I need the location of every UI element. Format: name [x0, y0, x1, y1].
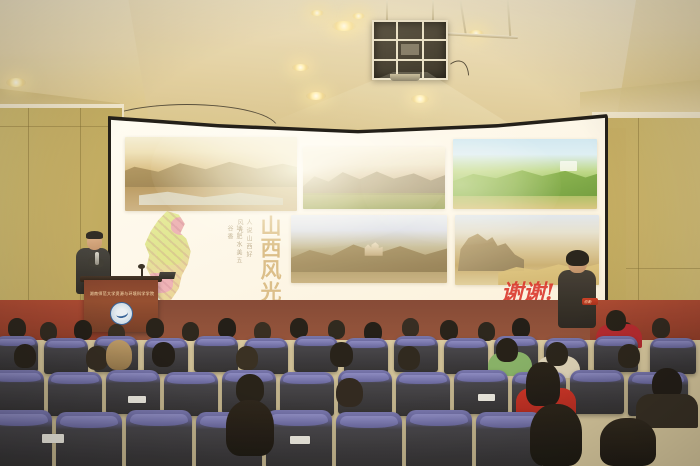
projector-body-glint: [401, 44, 419, 55]
downlight-5: [411, 95, 429, 103]
audience-head: [336, 378, 363, 407]
audience-head: [330, 342, 353, 367]
staff-hair: [566, 250, 589, 266]
audience-head: [652, 318, 670, 338]
audience-head: [512, 318, 530, 338]
projection-screen[interactable]: 人说山西好风光 地肥水美五谷香 山西风光 谢谢!: [108, 112, 608, 312]
auditorium-seat[interactable]: [454, 370, 508, 414]
audience-head-blonde: [106, 340, 132, 370]
downlight-1: [332, 21, 356, 31]
auditorium-seat[interactable]: [48, 372, 102, 416]
audience-head-long-hair: [526, 362, 560, 406]
cage-bar-h2: [374, 59, 446, 61]
audience-head: [86, 346, 108, 370]
auditorium-seat[interactable]: [570, 370, 624, 414]
audience-head-foreground: [226, 400, 274, 456]
screen-surface: 人说山西好风光 地肥水美五谷香 山西风光 谢谢!: [111, 115, 605, 309]
podium-mic-stand: [141, 268, 143, 279]
auditorium-seat[interactable]: [336, 412, 402, 466]
auditorium-seat[interactable]: [56, 412, 122, 466]
podium-banner-text: 湖南师范大学资源与环境科学学院: [90, 291, 154, 297]
audience-head-red-coat: [606, 310, 626, 331]
podium-mic-head: [138, 264, 145, 269]
auditorium-seat[interactable]: [106, 370, 160, 414]
cage-bar-v1: [396, 22, 398, 78]
auditorium-seat[interactable]: [44, 338, 88, 374]
projector-cage: [372, 20, 448, 80]
photo-valley-panorama: [125, 137, 297, 211]
audience-head: [236, 346, 258, 370]
downlight-8: [352, 13, 365, 19]
audience-head: [440, 320, 458, 340]
handheld-microphone: [95, 252, 99, 265]
audience-head: [290, 318, 308, 338]
photo-hilltop-temple: [291, 215, 447, 283]
auditorium-seat[interactable]: [406, 410, 472, 466]
seat-number-tag: [478, 394, 495, 401]
seat-number-tag: [290, 436, 310, 444]
audience-head: [496, 338, 518, 362]
university-emblem: [110, 302, 133, 325]
presentation-slide: 人说山西好风光 地肥水美五谷香 山西风光 谢谢!: [111, 115, 605, 309]
downlight-6: [6, 78, 26, 87]
photo-green-hills: [453, 139, 597, 209]
photo-mountain-ridge: [303, 147, 445, 209]
auditorium-seat[interactable]: [126, 410, 192, 466]
audience-head: [74, 320, 92, 340]
cage-bar-v2: [422, 22, 424, 78]
staff-armband: 值勤: [582, 298, 598, 305]
slide-subtitle-line-2: 地肥水美五谷香: [225, 225, 243, 265]
projector-support-rod-1: [386, 0, 388, 22]
audience-head: [398, 346, 420, 370]
lecture-hall-scene: 人说山西好风光 地肥水美五谷香 山西风光 谢谢! 湖南师范大学资源与环境科学学院…: [0, 0, 700, 466]
audience-head: [152, 342, 175, 367]
audience-head-foreground: [530, 404, 582, 466]
downlight-2: [292, 64, 309, 71]
seat-number-tag: [128, 396, 146, 403]
audience-head-foreground: [600, 418, 656, 466]
podium-banner: 湖南师范大学资源与环境科学学院: [90, 289, 154, 298]
audience-head: [618, 344, 640, 368]
audience-head: [8, 318, 26, 338]
audience-head: [218, 318, 236, 338]
audience-head: [14, 344, 36, 368]
slide-title: 山西风光: [251, 215, 281, 303]
auditorium-seat[interactable]: [0, 370, 44, 414]
wall-seam-left-h: [0, 126, 122, 127]
podium-laptop: [158, 272, 176, 279]
auditorium-seat[interactable]: [194, 336, 238, 372]
audience-head: [146, 318, 164, 338]
auditorium-seat[interactable]: [444, 338, 488, 374]
audience-head: [402, 318, 419, 337]
seat-number-tag: [42, 434, 64, 443]
presenter-hair: [86, 231, 103, 239]
staff-armband-text: 值勤: [584, 300, 591, 305]
downlight-3: [310, 10, 324, 16]
projector-lens: [390, 74, 420, 81]
projector-support-rod-2: [432, 0, 434, 22]
downlight-4: [306, 92, 326, 100]
cage-bar-h1: [374, 39, 446, 41]
